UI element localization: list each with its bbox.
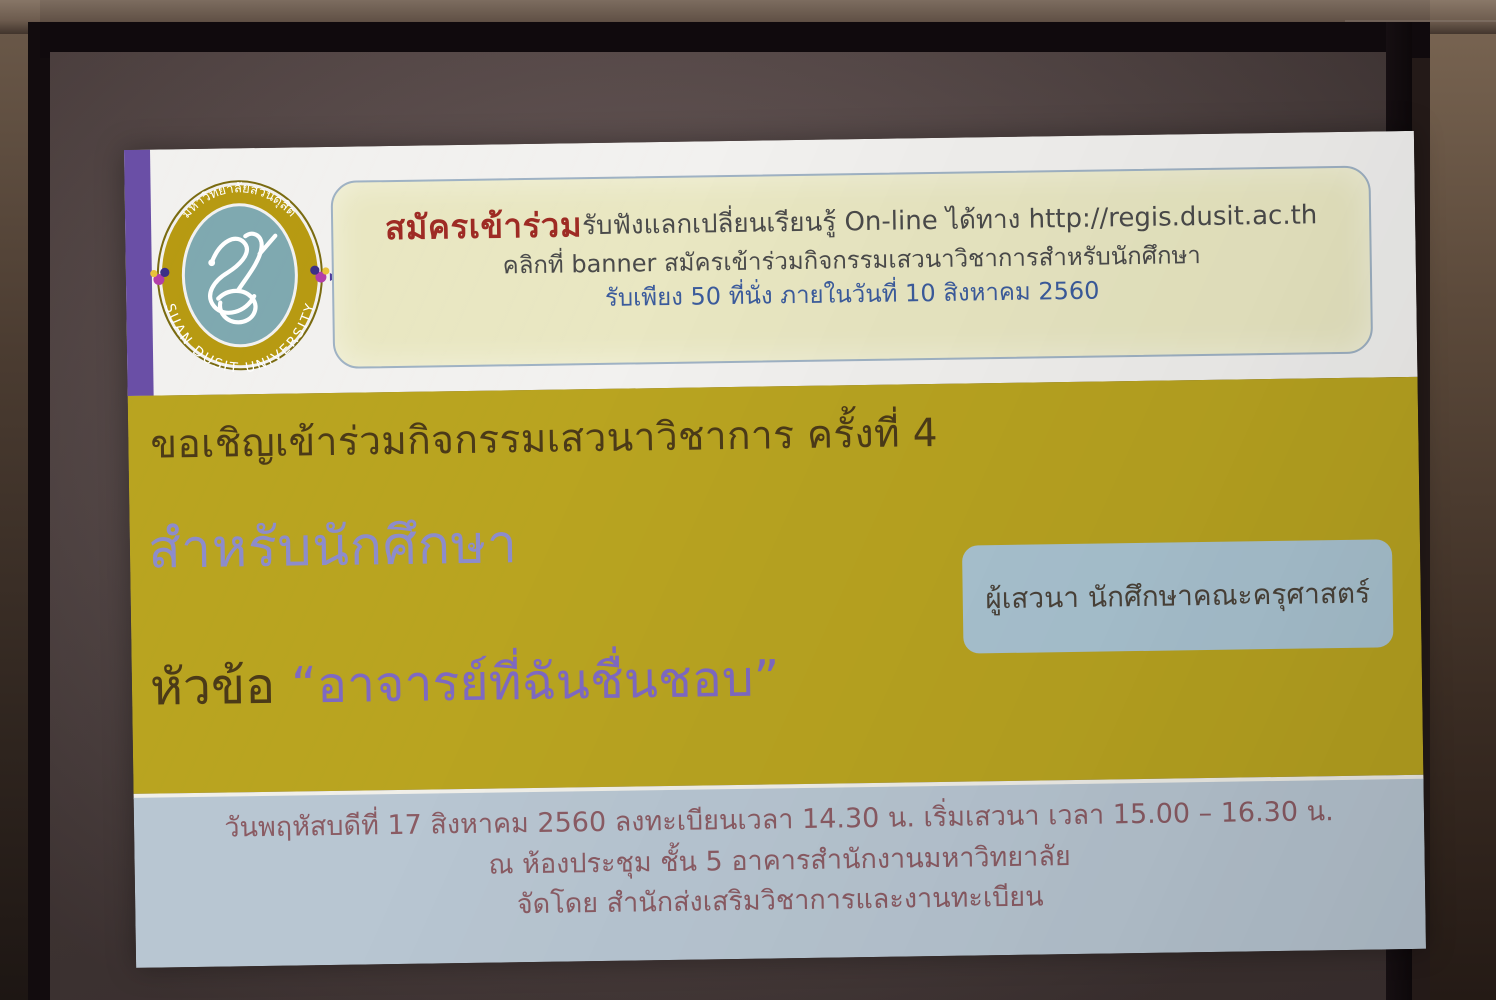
screen-shadow-left — [28, 22, 50, 1000]
callout-highlight: สมัครเข้าร่วม — [385, 205, 583, 247]
wall-right — [1430, 0, 1496, 1000]
slide-header-band: มหาวิทยาลัยสวนดุสิต SUAN DUSIT UNIVERSIT… — [124, 131, 1418, 396]
slide-subtitle: สำหรับนักศึกษา — [147, 500, 518, 591]
room-environment: มหาวิทยาลัยสวนดุสิต SUAN DUSIT UNIVERSIT… — [0, 0, 1496, 1000]
footer-lines: วันพฤหัสบดีที่ 17 สิงหาคม 2560 ลงทะเบียน… — [134, 791, 1426, 932]
suan-dusit-university-logo-icon: มหาวิทยาลัยสวนดุสิต SUAN DUSIT UNIVERSIT… — [140, 169, 339, 378]
speaker-chip-label: ผู้เสวนา นักศึกษาคณะครุศาสตร์ — [985, 572, 1371, 622]
presentation-slide: มหาวิทยาลัยสวนดุสิต SUAN DUSIT UNIVERSIT… — [124, 131, 1426, 968]
callout-line-1-rest: รับฟังแลกเปลี่ยนเรียนรู้ On-line ได้ทาง … — [582, 200, 1318, 241]
topic-label: หัวข้อ — [150, 657, 276, 717]
topic-quoted: “อาจารย์ที่ฉันชื่นชอบ” — [291, 649, 780, 714]
slide-main-band: ขอเชิญเข้าร่วมกิจกรรมเสวนาวิชาการ ครั้งท… — [128, 377, 1424, 794]
slide-topic: หัวข้อ “อาจารย์ที่ฉันชื่นชอบ” — [149, 639, 780, 727]
slide-footer-band: วันพฤหัสบดีที่ 17 สิงหาคม 2560 ลงทะเบียน… — [134, 779, 1426, 968]
registration-callout-box: สมัครเข้าร่วมรับฟังแลกเปลี่ยนเรียนรู้ On… — [330, 166, 1373, 369]
speaker-chip: ผู้เสวนา นักศึกษาคณะครุศาสตร์ — [962, 539, 1394, 653]
slide-title: ขอเชิญเข้าร่วมกิจกรรมเสวนาวิชาการ ครั้งท… — [150, 399, 1151, 476]
